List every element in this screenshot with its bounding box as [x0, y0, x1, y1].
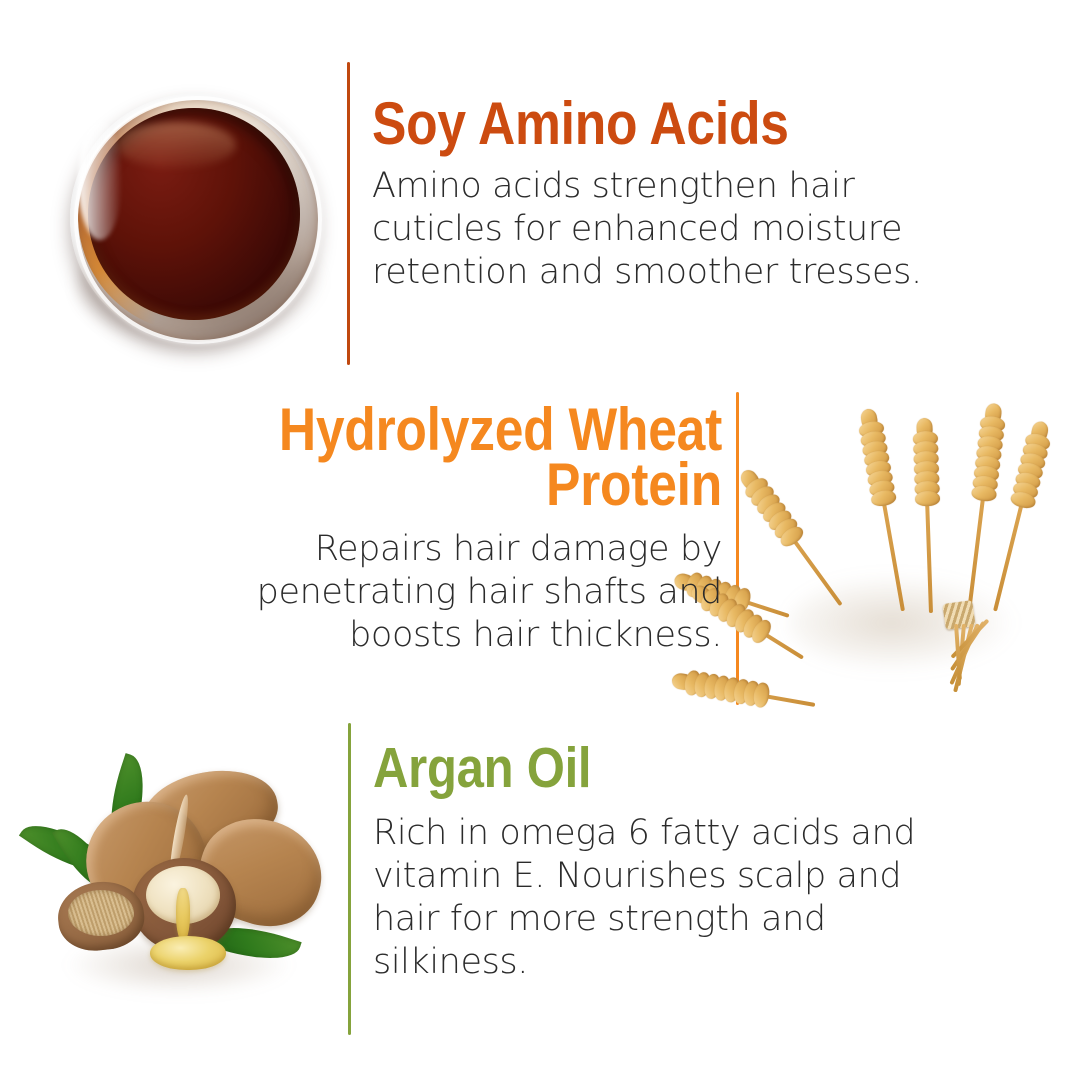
wheat-stalk [670, 665, 818, 720]
section-soy-amino-acids: Soy Amino Acids Amino acids strengthen h… [0, 0, 1080, 380]
argan-heading: Argan Oil [373, 742, 949, 794]
wheat-ear [670, 665, 772, 712]
argan-body-text: Rich in omega 6 fatty acids and vitamin … [373, 812, 1043, 983]
wheat-text-block: Hydrolyzed Wheat Protein Repairs hair da… [162, 402, 722, 656]
wheat-ear [909, 418, 942, 507]
section-argan-oil: Argan Oil Rich in omega 6 fatty acids an… [0, 720, 1080, 1080]
bowl-glass-highlight [78, 120, 122, 240]
soy-text-block: Soy Amino Acids Amino acids strengthen h… [372, 96, 1032, 293]
section-divider-wheat [736, 392, 739, 705]
soy-body-text: Amino acids strengthen hair cuticles for… [372, 165, 1032, 293]
argan-oil-pool [150, 936, 226, 970]
argan-oil-drip [176, 888, 190, 942]
argan-text-block: Argan Oil Rich in omega 6 fatty acids an… [373, 742, 1043, 983]
argan-half-shell-inner [68, 890, 134, 936]
wheat-body-text: Repairs hair damage by penetrating hair … [162, 528, 722, 656]
infographic-canvas: Soy Amino Acids Amino acids strengthen h… [0, 0, 1080, 1080]
argan-nuts-image [24, 750, 344, 1025]
wheat-ear [1006, 418, 1056, 511]
soy-heading: Soy Amino Acids [372, 96, 940, 151]
wheat-stalk [909, 418, 946, 614]
soy-bowl-image [48, 72, 338, 362]
wheat-ear [732, 463, 808, 552]
section-divider-soy [347, 62, 350, 365]
section-hydrolyzed-wheat-protein: Hydrolyzed Wheat Protein Repairs hair da… [0, 380, 1080, 720]
wheat-image [748, 388, 1078, 714]
liquid-gloss-highlight [116, 122, 236, 168]
wheat-heading: Hydrolyzed Wheat Protein [240, 402, 722, 512]
wheat-ear [968, 402, 1010, 503]
wheat-ear [853, 407, 900, 509]
section-divider-argan [348, 723, 351, 1035]
